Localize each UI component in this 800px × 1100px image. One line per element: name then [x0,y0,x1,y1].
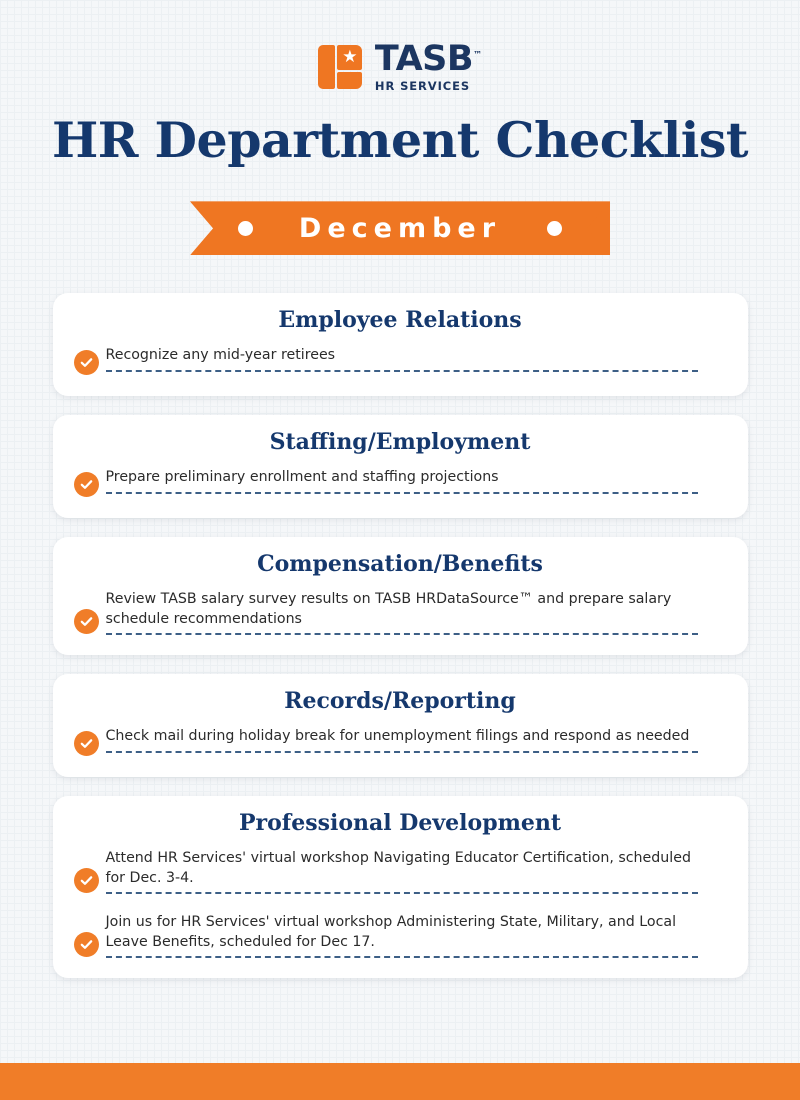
tasb-blocks-star-icon: ★ [318,45,362,89]
brand-wordmark: TASB™ HR SERVICES [375,42,482,93]
bullet-dot-icon-left [238,221,253,236]
checklist-item-text: Recognize any mid-year retirees [106,346,698,366]
brand-subtitle: HR SERVICES [375,81,470,93]
trademark-symbol: ™ [473,50,482,60]
brand-logo: ★ TASB™ HR SERVICES [0,0,800,93]
footer-bar [0,1063,800,1100]
section-title: Staffing/Employment [53,429,748,455]
item-divider [106,892,698,894]
item-divider [106,370,698,372]
checklist-item-text: Attend HR Services' virtual workshop Nav… [106,849,698,888]
section-title: Employee Relations [53,307,748,333]
checklist-item[interactable]: Review TASB salary survey results on TAS… [53,590,748,635]
check-circle-icon[interactable] [74,731,99,756]
checklist-item-text: Review TASB salary survey results on TAS… [106,590,698,629]
section-items: Review TASB salary survey results on TAS… [53,590,748,635]
month-ribbon-shape: December [190,201,610,255]
bullet-dot-icon-right [547,221,562,236]
checklist-item-text: Check mail during holiday break for unem… [106,727,698,747]
checklist-item[interactable]: Attend HR Services' virtual workshop Nav… [53,849,748,894]
star-icon: ★ [342,49,358,65]
page-title: HR Department Checklist [0,111,800,169]
checklist-item-text: Prepare preliminary enrollment and staff… [106,468,698,488]
brand-name: TASB™ [375,42,482,77]
check-circle-icon[interactable] [74,609,99,634]
item-divider [106,956,698,958]
checklist-item[interactable]: Join us for HR Services' virtual worksho… [53,913,748,958]
section-title: Records/Reporting [53,688,748,714]
check-circle-icon[interactable] [74,350,99,375]
section-card-professional-development: Professional Development Attend HR Servi… [53,796,748,978]
logo-block-left [318,45,335,89]
section-title: Professional Development [53,810,748,836]
checklist-item[interactable]: Check mail during holiday break for unem… [53,727,748,757]
item-divider [106,751,698,753]
section-card-records-reporting: Records/Reporting Check mail during holi… [53,674,748,777]
item-divider [106,633,698,635]
checklist-page: ★ TASB™ HR SERVICES HR Department Checkl… [0,0,800,1100]
month-ribbon-content: December [190,213,610,244]
check-circle-icon[interactable] [74,472,99,497]
section-card-staffing-employment: Staffing/Employment Prepare preliminary … [53,415,748,518]
section-items: Prepare preliminary enrollment and staff… [53,468,748,498]
section-items: Attend HR Services' virtual workshop Nav… [53,849,748,958]
logo-block-bottom-right [337,72,362,89]
section-items: Check mail during holiday break for unem… [53,727,748,757]
check-circle-icon[interactable] [74,868,99,893]
month-label: December [299,213,501,244]
checklist-item[interactable]: Recognize any mid-year retirees [53,346,748,376]
checklist-sections: Employee Relations Recognize any mid-yea… [0,293,800,978]
checklist-item-text: Join us for HR Services' virtual worksho… [106,913,698,952]
brand-name-text: TASB [375,39,473,79]
month-banner: December [0,201,800,255]
section-title: Compensation/Benefits [53,551,748,577]
section-items: Recognize any mid-year retirees [53,346,748,376]
checklist-item[interactable]: Prepare preliminary enrollment and staff… [53,468,748,498]
section-card-employee-relations: Employee Relations Recognize any mid-yea… [53,293,748,396]
page-content: ★ TASB™ HR SERVICES HR Department Checkl… [0,0,800,978]
section-card-compensation-benefits: Compensation/Benefits Review TASB salary… [53,537,748,655]
check-circle-icon[interactable] [74,932,99,957]
item-divider [106,492,698,494]
